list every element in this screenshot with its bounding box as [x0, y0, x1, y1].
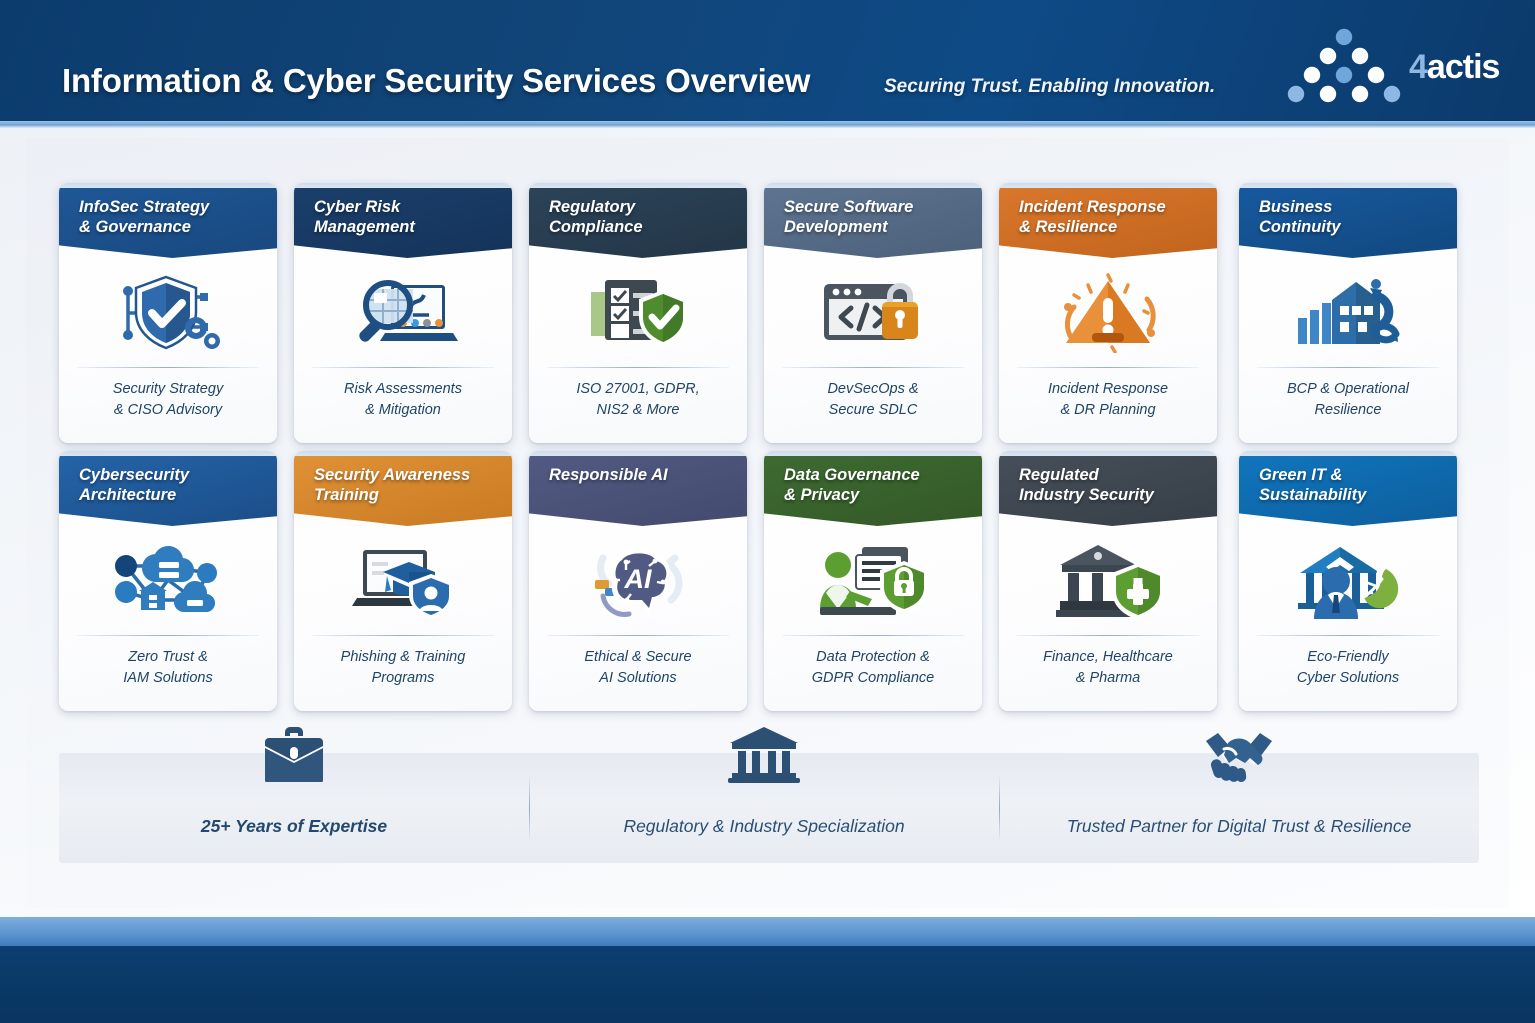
page-title: Information & Cyber Security Services Ov…	[62, 62, 810, 100]
service-card[interactable]: Green IT &Sustainability Eco-FriendlyCyb…	[1239, 451, 1457, 711]
highlight-divider	[999, 775, 1000, 841]
card-subtitle: Phishing & TrainingPrograms	[302, 647, 504, 689]
service-card[interactable]: Responsible AI AI Ethical & SecureAI Sol…	[529, 451, 747, 711]
service-card[interactable]: Cyber RiskManagement Risk Assessments& M…	[294, 183, 512, 443]
briefcase-icon	[59, 723, 529, 785]
card-title: Responsible AI	[529, 456, 747, 526]
highlight-label: Trusted Partner for Digital Trust & Resi…	[999, 816, 1479, 837]
triangle-dots-logo-icon	[1287, 28, 1402, 106]
checklist-shield-icon	[529, 261, 747, 363]
card-title: Security AwarenessTraining	[294, 456, 512, 526]
services-grid: InfoSec Strategy& Governance Security St…	[59, 175, 1479, 703]
bottom-footer-band	[0, 946, 1535, 1023]
page-tagline: Securing Trust. Enabling Innovation.	[884, 76, 1215, 98]
bank-icon	[529, 723, 999, 785]
card-divider	[1257, 635, 1439, 636]
brand-logo: 4actis	[1287, 26, 1507, 106]
service-card[interactable]: BusinessContinuity BCP & OperationalResi…	[1239, 183, 1457, 443]
card-title: InfoSec Strategy& Governance	[59, 188, 277, 258]
card-subtitle: Data Protection &GDPR Compliance	[772, 647, 974, 689]
card-title: Secure SoftwareDevelopment	[764, 188, 982, 258]
building-recovery-icon	[1239, 261, 1457, 363]
card-title: BusinessContinuity	[1239, 188, 1457, 258]
card-divider	[782, 635, 964, 636]
card-divider	[1257, 367, 1439, 368]
card-subtitle: Eco-FriendlyCyber Solutions	[1247, 647, 1449, 689]
service-card[interactable]: RegulatedIndustry Security Finance, Heal…	[999, 451, 1217, 711]
card-divider	[547, 367, 729, 368]
card-title: Green IT &Sustainability	[1239, 456, 1457, 526]
handshake-icon	[999, 723, 1479, 785]
card-subtitle: Finance, Healthcare& Pharma	[1007, 647, 1209, 689]
bottom-accent-band	[0, 917, 1535, 946]
logo-word-rest: actis	[1427, 48, 1500, 86]
page-header: Information & Cyber Security Services Ov…	[0, 0, 1535, 128]
svg-text:AI: AI	[624, 564, 652, 594]
highlights-bar: 25+ Years of Expertise Regulatory & Indu…	[59, 753, 1479, 863]
services-row-1: InfoSec Strategy& Governance Security St…	[59, 175, 1479, 443]
service-card[interactable]: Security AwarenessTraining Phishing & Tr…	[294, 451, 512, 711]
brand-wordmark: 4actis	[1409, 48, 1499, 87]
card-title: Data Governance& Privacy	[764, 456, 982, 526]
card-subtitle: DevSecOps &Secure SDLC	[772, 379, 974, 421]
code-window-lock-icon	[764, 261, 982, 363]
card-title: Cyber RiskManagement	[294, 188, 512, 258]
bank-shield-plus-icon	[999, 529, 1217, 631]
bank-person-leaf-icon	[1239, 529, 1457, 631]
card-title: RegulatedIndustry Security	[999, 456, 1217, 526]
slide-canvas: Information & Cyber Security Services Ov…	[0, 0, 1535, 1023]
highlight-item: Regulatory & Industry Specialization	[529, 753, 999, 863]
card-subtitle: BCP & OperationalResilience	[1247, 379, 1449, 421]
card-divider	[312, 635, 494, 636]
card-subtitle: Ethical & SecureAI Solutions	[537, 647, 739, 689]
card-subtitle: Security Strategy& CISO Advisory	[67, 379, 269, 421]
card-divider	[312, 367, 494, 368]
card-divider	[547, 635, 729, 636]
highlight-divider	[529, 775, 530, 841]
card-divider	[782, 367, 964, 368]
service-card[interactable]: Data Governance& Privacy Data Protection…	[764, 451, 982, 711]
magnifier-chart-laptop-icon	[294, 261, 512, 363]
shield-check-gears-icon	[59, 261, 277, 363]
service-card[interactable]: InfoSec Strategy& Governance Security St…	[59, 183, 277, 443]
service-card[interactable]: RegulatoryCompliance ISO 27001, GDPR,NIS…	[529, 183, 747, 443]
card-title: Incident Response& Resilience	[999, 188, 1217, 258]
laptop-graduation-shield-icon	[294, 529, 512, 631]
card-divider	[77, 367, 259, 368]
card-title: CybersecurityArchitecture	[59, 456, 277, 526]
warning-triangle-icon	[999, 261, 1217, 363]
card-subtitle: Zero Trust &IAM Solutions	[67, 647, 269, 689]
card-subtitle: Incident Response& DR Planning	[1007, 379, 1209, 421]
ai-brain-icon: AI	[529, 529, 747, 631]
card-divider	[1017, 635, 1199, 636]
service-card[interactable]: CybersecurityArchitecture Zero Trust &IA…	[59, 451, 277, 711]
services-row-2: CybersecurityArchitecture Zero Trust &IA…	[59, 443, 1479, 703]
network-nodes-icon	[59, 529, 277, 631]
card-divider	[77, 635, 259, 636]
logo-word-prefix: 4	[1409, 48, 1427, 86]
service-card[interactable]: Incident Response& Resilience Incident R…	[999, 183, 1217, 443]
highlight-item: 25+ Years of Expertise	[59, 753, 529, 863]
card-subtitle: Risk Assessments& Mitigation	[302, 379, 504, 421]
highlight-label: 25+ Years of Expertise	[59, 816, 529, 837]
highlight-item: Trusted Partner for Digital Trust & Resi…	[999, 753, 1479, 863]
card-divider	[1017, 367, 1199, 368]
highlight-label: Regulatory & Industry Specialization	[529, 816, 999, 837]
service-card[interactable]: Secure SoftwareDevelopment DevSecOps &Se…	[764, 183, 982, 443]
person-document-lock-icon	[764, 529, 982, 631]
card-subtitle: ISO 27001, GDPR,NIS2 & More	[537, 379, 739, 421]
card-title: RegulatoryCompliance	[529, 188, 747, 258]
